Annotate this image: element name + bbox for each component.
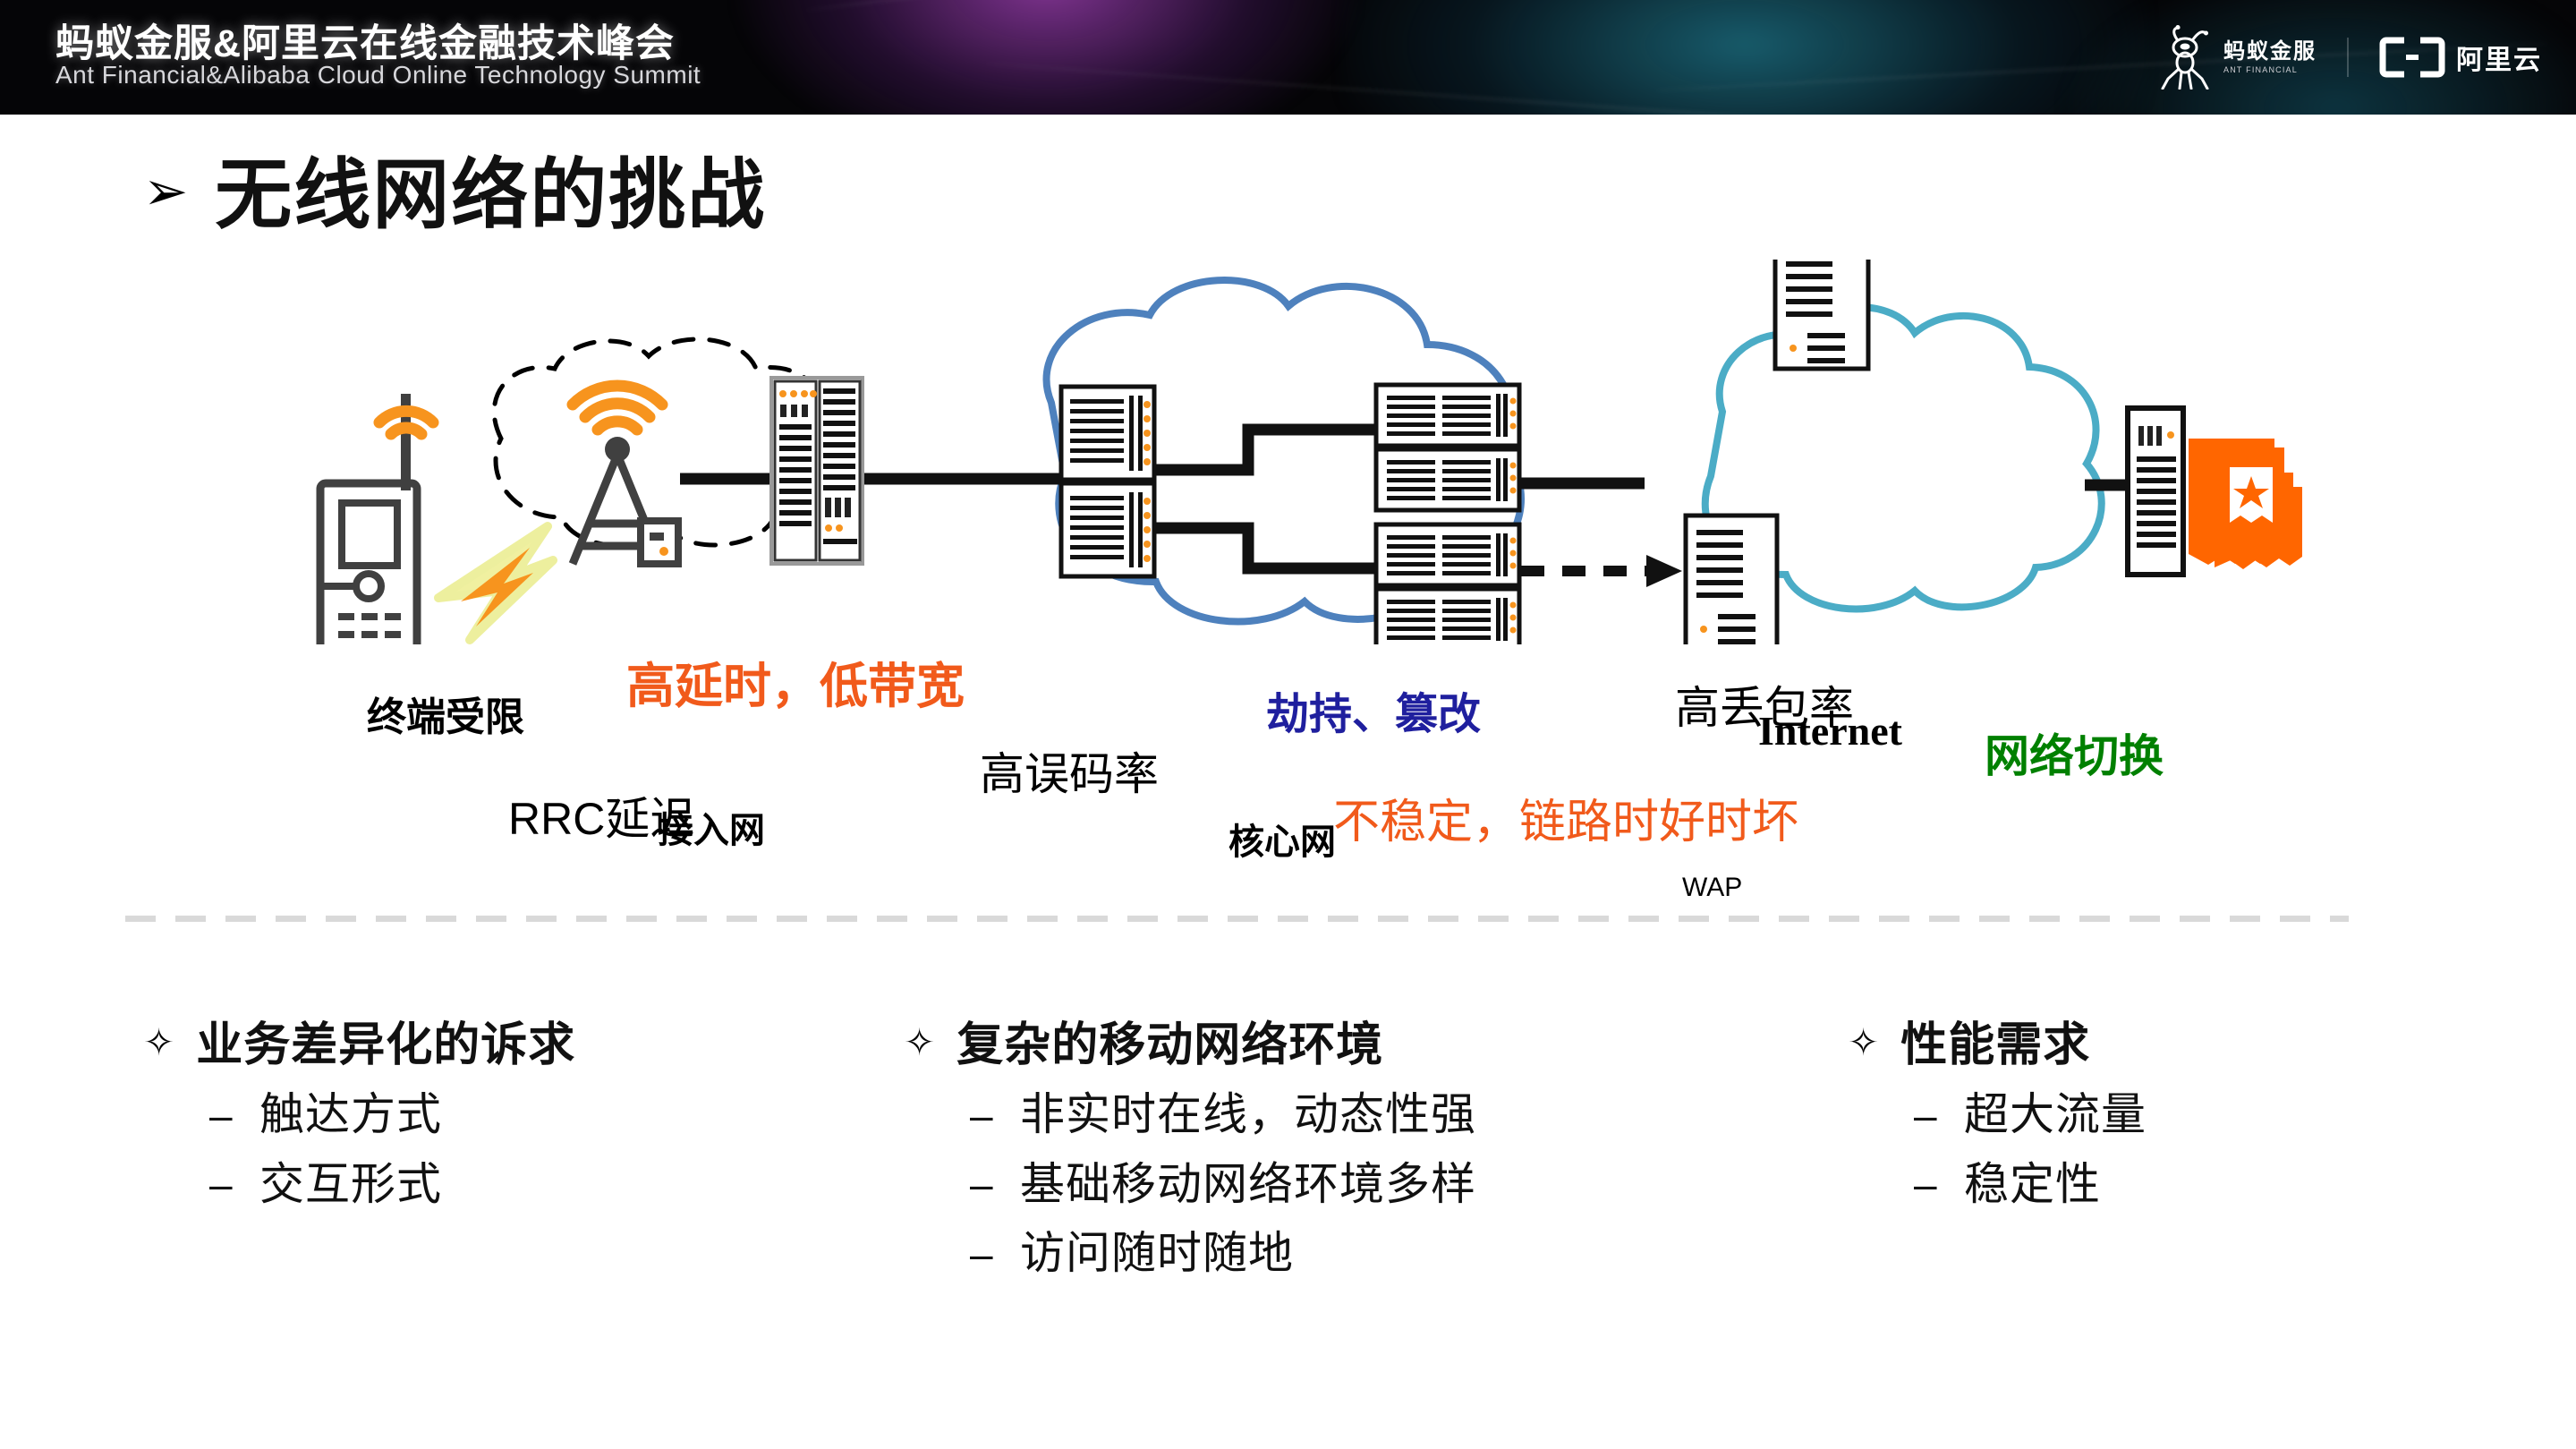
column-heading-text: 业务差异化的诉求	[196, 1020, 575, 1071]
dash-bullet-icon: –	[209, 1095, 240, 1136]
column-heading: ✧业务差异化的诉求	[143, 1020, 575, 1071]
alibaba-cloud-logo: 阿里云	[2379, 37, 2542, 78]
list-item: –非实时在线，动态性强	[970, 1089, 1476, 1141]
annotation-label: 网络切换	[1985, 734, 2164, 779]
core-network-label: 核心网	[1228, 813, 1336, 865]
requirement-column: ✧业务差异化的诉求–触达方式–交互形式	[143, 1020, 575, 1210]
logo-divider	[2347, 38, 2349, 77]
alibaba-cloud-wordmark: 阿里云	[2456, 38, 2542, 77]
core-server-bottom-icon	[1376, 524, 1519, 644]
list-item: –交互形式	[209, 1159, 575, 1211]
dash-bullet-icon: –	[1914, 1163, 1944, 1205]
annotation-label: 高丢包率	[1675, 686, 1854, 730]
list-item-label: 触达方式	[259, 1089, 442, 1141]
lightning-bolt-icon	[438, 526, 553, 640]
mobile-phone-icon	[320, 394, 433, 644]
column-heading: ✧性能需求	[1848, 1020, 2147, 1071]
annotation-label: 不稳定，链路时好时坏	[1333, 799, 1798, 846]
content-documents-icon	[2189, 439, 2302, 569]
column-heading-text: 复杂的移动网络环境	[956, 1020, 1383, 1071]
list-item-label: 基础移动网络环境多样	[1020, 1159, 1476, 1211]
ant-wordmark-en: ANT FINANCIAL	[2223, 66, 2317, 74]
origin-server-rack-icon	[2128, 408, 2183, 575]
list-item-label: 超大流量	[1964, 1089, 2147, 1141]
list-item-label: 访问随时随地	[1020, 1228, 1294, 1280]
page-title: ➢ 无线网络的挑战	[143, 157, 766, 234]
page-title-text: 无线网络的挑战	[215, 157, 766, 234]
internet-top-server-icon	[1775, 260, 1868, 369]
dash-bullet-icon: –	[970, 1163, 1000, 1205]
wap-label: WAP	[1682, 873, 1742, 903]
list-item: –基础移动网络环境多样	[970, 1159, 1476, 1211]
annotation-label: 高误码率	[980, 752, 1159, 797]
summit-title-en: Ant Financial&Alibaba Cloud Online Techn…	[55, 61, 701, 89]
banner-glow-purple	[734, 0, 1360, 115]
ant-financial-logo: 蚂蚁金服 ANT FINANCIAL	[2159, 25, 2317, 89]
summit-title-zh: 蚂蚁金服&阿里云在线金融技术峰会	[55, 13, 675, 68]
phone-signal-icon	[379, 411, 433, 434]
access-network-rack-icon	[771, 378, 863, 564]
ant-wordmark: 蚂蚁金服 ANT FINANCIAL	[2223, 41, 2317, 74]
ant-mascot-icon	[2159, 25, 2215, 89]
annotation-label: 终端受限	[367, 698, 524, 737]
dash-bullet-icon: –	[1914, 1095, 1944, 1136]
list-item: –触达方式	[209, 1089, 575, 1141]
diamond-bullet-icon: ✧	[1848, 1024, 1879, 1061]
annotation-label: 高延时，低带宽	[626, 662, 965, 711]
core-gateway-rack-icon	[1061, 387, 1154, 576]
ant-wordmark-zh: 蚂蚁金服	[2223, 41, 2317, 63]
column-heading: ✧复杂的移动网络环境	[904, 1020, 1476, 1071]
list-item-label: 交互形式	[259, 1159, 442, 1211]
annotation-label: 劫持、篡改	[1266, 694, 1481, 737]
diamond-bullet-icon: ✧	[904, 1024, 935, 1061]
list-item-label: 非实时在线，动态性强	[1020, 1089, 1476, 1141]
dash-bullet-icon: –	[970, 1095, 1000, 1136]
section-divider	[125, 916, 2349, 922]
core-server-top-icon	[1376, 385, 1519, 510]
dash-bullet-icon: –	[970, 1233, 1000, 1274]
alibaba-cloud-bracket-icon	[2379, 37, 2445, 78]
list-item: –稳定性	[1914, 1159, 2147, 1211]
tower-base-unit-icon	[641, 521, 678, 564]
list-item: –访问随时随地	[970, 1228, 1476, 1280]
network-diagram: 接入网 核心网 Internet WAP	[0, 260, 2576, 644]
list-item: –超大流量	[1914, 1089, 2147, 1141]
dash-bullet-icon: –	[209, 1163, 240, 1205]
arrow-bullet-icon: ➢	[143, 165, 188, 218]
column-heading-text: 性能需求	[1900, 1020, 2090, 1071]
diamond-bullet-icon: ✧	[143, 1024, 174, 1061]
annotation-label: RRC延迟	[508, 797, 694, 841]
list-item-label: 稳定性	[1964, 1159, 2101, 1211]
header-logos: 蚂蚁金服 ANT FINANCIAL 阿里云	[2159, 13, 2542, 102]
requirement-column: ✧复杂的移动网络环境–非实时在线，动态性强–基础移动网络环境多样–访问随时随地	[904, 1020, 1476, 1280]
requirement-column: ✧性能需求–超大流量–稳定性	[1848, 1020, 2147, 1210]
wap-arrowhead-icon	[1646, 555, 1682, 587]
wap-server-icon	[1686, 516, 1777, 644]
header-banner: 蚂蚁金服&阿里云在线金融技术峰会 Ant Financial&Alibaba C…	[0, 0, 2576, 115]
network-diagram-svg	[0, 260, 2576, 644]
